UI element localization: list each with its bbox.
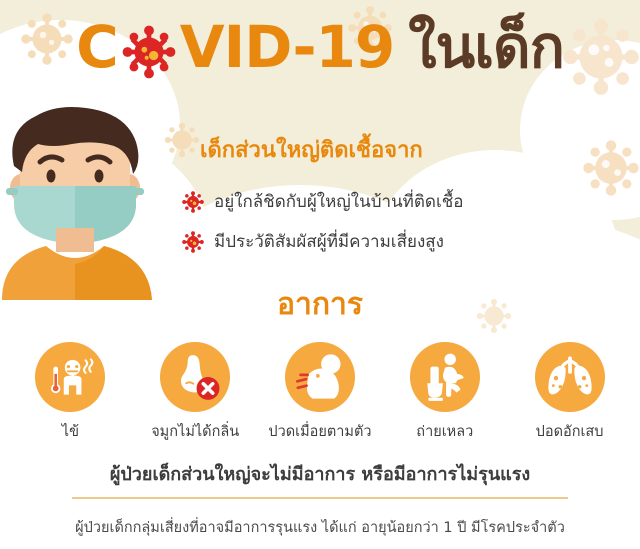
- infected-from-bullet: มีประวัติสัมผัสผู้ที่มีความเสี่ยงสูง: [182, 228, 444, 255]
- eye-right: [95, 170, 104, 183]
- symptom-item-pneumonia: ปอดอักเสบ: [510, 342, 630, 443]
- symptom-label: ถ่ายเหลว: [416, 420, 473, 443]
- diarrhea-toilet-icon: [410, 342, 480, 412]
- title-part-thai: ในเด็ก: [408, 13, 564, 81]
- symptom-item-no-smell: จมูกไม่ได้กลิ่น: [135, 342, 255, 443]
- fever-thermometer-icon: [35, 342, 105, 412]
- mask-strap-right: [132, 188, 144, 195]
- symptom-label: ปอดอักเสบ: [536, 420, 604, 443]
- symptoms-icon-row: ไข้ จมูกไม่ได้กลิ่น: [0, 342, 640, 443]
- symptom-item-body-ache: ปวดเมื่อยตามตัว: [260, 342, 380, 443]
- bullet-text: อยู่ใกล้ชิดกับผู้ใหญ่ในบ้านที่ติดเชื้อ: [214, 188, 464, 215]
- virus-bullet-icon: [182, 191, 204, 213]
- footer-divider: [72, 497, 568, 499]
- footer-note-sub: ผู้ป่วยเด็กกลุ่มเสี่ยงที่อาจมีอาการรุนแร…: [0, 516, 640, 539]
- infographic-poster: C VID-19ในเด็ก: [0, 0, 640, 549]
- virus-bullet-icon: [182, 231, 204, 253]
- boy-with-mask-illustration: [0, 100, 174, 300]
- mask-strap-left: [6, 188, 18, 195]
- infected-from-bullet: อยู่ใกล้ชิดกับผู้ใหญ่ในบ้านที่ติดเชื้อ: [182, 188, 464, 215]
- page-title: C VID-19ในเด็ก: [0, 18, 640, 79]
- lungs-pneumonia-icon: [535, 342, 605, 412]
- title-part-c: C: [76, 13, 118, 81]
- title-part-vid19: VID-19: [180, 13, 394, 81]
- virus-icon: [118, 21, 180, 79]
- symptom-item-diarrhea: ถ่ายเหลว: [385, 342, 505, 443]
- neck: [56, 228, 94, 252]
- body-ache-icon: [285, 342, 355, 412]
- symptom-label: ไข้: [62, 420, 79, 443]
- infected-from-heading: เด็กส่วนใหญ่ติดเชื้อจาก: [200, 132, 423, 167]
- footer-note-main: ผู้ป่วยเด็กส่วนใหญ่จะไม่มีอาการ หรือมีอา…: [0, 459, 640, 488]
- bullet-text: มีประวัติสัมผัสผู้ที่มีความเสี่ยงสูง: [214, 228, 444, 255]
- decorative-virus-icon: [578, 128, 640, 208]
- symptoms-heading: อาการ: [0, 281, 640, 328]
- nose-no-smell-icon: [160, 342, 230, 412]
- eye-left: [47, 170, 56, 183]
- symptom-label: จมูกไม่ได้กลิ่น: [151, 420, 239, 443]
- symptom-item-fever: ไข้: [10, 342, 130, 443]
- symptom-label: ปวดเมื่อยตามตัว: [268, 420, 371, 443]
